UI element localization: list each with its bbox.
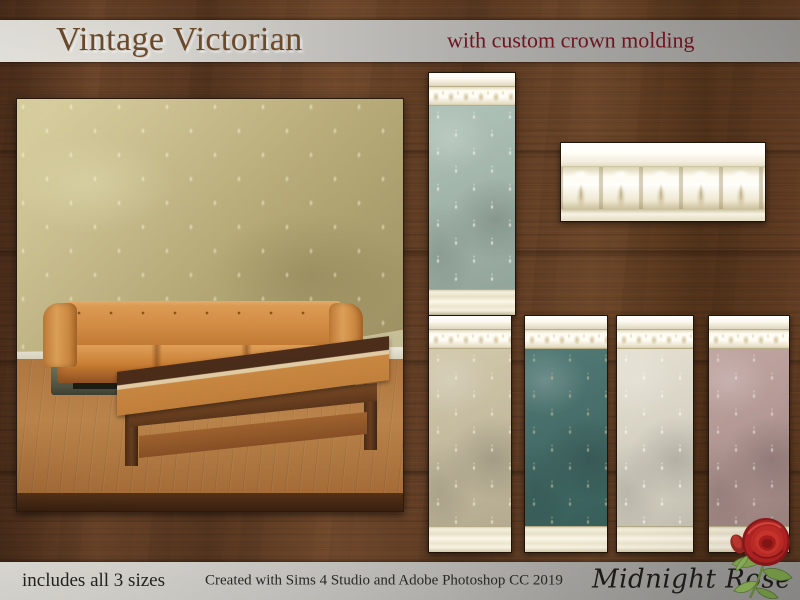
baseboard-strip — [429, 289, 515, 315]
sizes-note: includes all 3 sizes — [22, 570, 165, 592]
sofa-arm-left — [43, 303, 77, 367]
wallpaper-field-cream — [617, 349, 693, 526]
frieze-ornament-strip — [429, 329, 511, 349]
rose-graphic — [726, 508, 800, 600]
wallpaper-field-rose — [709, 349, 789, 526]
poster-canvas: Vintage Victorian with custom crown mold… — [0, 0, 800, 600]
header-band: Vintage Victorian with custom crown mold… — [0, 20, 800, 62]
baseboard-strip — [617, 526, 693, 552]
molding-bottom-lip — [561, 209, 765, 221]
crown-molding-strip — [429, 73, 515, 86]
frieze-ornament-strip — [525, 329, 607, 349]
crown-molding-strip — [429, 316, 511, 329]
crown-molding-strip — [709, 316, 789, 329]
swatch-cream[interactable] — [616, 315, 694, 553]
crown-molding-strip — [525, 316, 607, 329]
footer-band: includes all 3 sizes Created with Sims 4… — [0, 562, 800, 600]
wallpaper-field-teal — [525, 349, 607, 526]
frieze-ornament-strip — [429, 86, 515, 106]
page-title: Vintage Victorian — [56, 21, 303, 59]
wallpaper-field-sage — [429, 106, 515, 289]
frieze-ornament-strip — [709, 329, 789, 349]
swatch-beige[interactable] — [428, 315, 512, 553]
baseboard-strip — [525, 526, 607, 552]
swatch-sage[interactable] — [428, 72, 516, 316]
swatch-teal[interactable] — [524, 315, 608, 553]
creation-credit: Created with Sims 4 Studio and Adobe Pho… — [205, 573, 563, 590]
crown-molding-strip — [617, 316, 693, 329]
page-subtitle: with custom crown molding — [447, 27, 694, 53]
molding-cove — [561, 143, 765, 167]
room-render-preview — [16, 98, 404, 512]
molding-acanthus-leaf-band — [561, 167, 765, 209]
coffee-table — [117, 354, 389, 474]
frieze-ornament-strip — [617, 329, 693, 349]
baseboard-strip — [429, 526, 511, 552]
preview-floor-edge — [17, 493, 403, 511]
sofa-tufted-back — [63, 301, 343, 347]
crown-molding-closeup[interactable] — [560, 142, 766, 222]
wallpaper-field-beige — [429, 349, 511, 526]
